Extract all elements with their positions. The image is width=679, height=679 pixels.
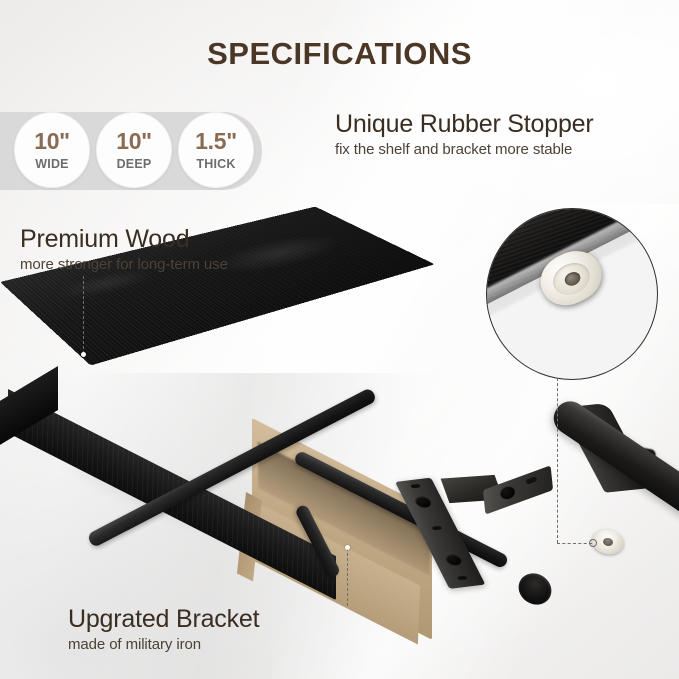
callout-upgraded-bracket-title: Upgrated Bracket — [68, 605, 259, 634]
detached-bracket — [496, 398, 679, 658]
callout-rubber-stopper-title: Unique Rubber Stopper — [335, 110, 593, 139]
bracket-plate-slot-top — [409, 483, 421, 489]
callout-rubber-stopper: Unique Rubber Stopper fix the shelf and … — [335, 110, 593, 158]
rubber-stopper-magnifier-inset — [486, 208, 658, 380]
callout-upgraded-bracket: Upgrated Bracket made of military iron — [68, 605, 259, 653]
bracket-leader-endpoint — [345, 545, 350, 550]
callout-upgraded-bracket-subtitle: made of military iron — [68, 636, 259, 653]
stopper-leader-line-vertical — [557, 378, 558, 543]
detached-bracket-tube-opening — [513, 567, 558, 611]
bracket-leader-line — [347, 548, 348, 606]
bracket-plate-hole-top — [413, 495, 434, 508]
wood-leader-line — [83, 276, 84, 354]
bracket-plate-slot-bottom — [456, 575, 468, 581]
bracket-plate-slot-middle — [431, 525, 443, 531]
wood-leader-endpoint — [81, 352, 86, 357]
callout-premium-wood-subtitle: more stronger for long-term use — [20, 256, 228, 273]
callout-premium-wood: Premium Wood more stronger for long-term… — [20, 225, 228, 273]
stopper-leader-endpoint — [589, 539, 597, 547]
product-photo — [0, 0, 679, 679]
bracket-plate-hole-bottom — [443, 553, 464, 566]
callout-premium-wood-title: Premium Wood — [20, 225, 228, 254]
specifications-infographic: SPECIFICATIONS 10" WIDE 10" DEEP 1.5" TH… — [0, 0, 679, 679]
stopper-leader-line-horizontal — [557, 543, 592, 544]
callout-rubber-stopper-subtitle: fix the shelf and bracket more stable — [335, 141, 593, 158]
